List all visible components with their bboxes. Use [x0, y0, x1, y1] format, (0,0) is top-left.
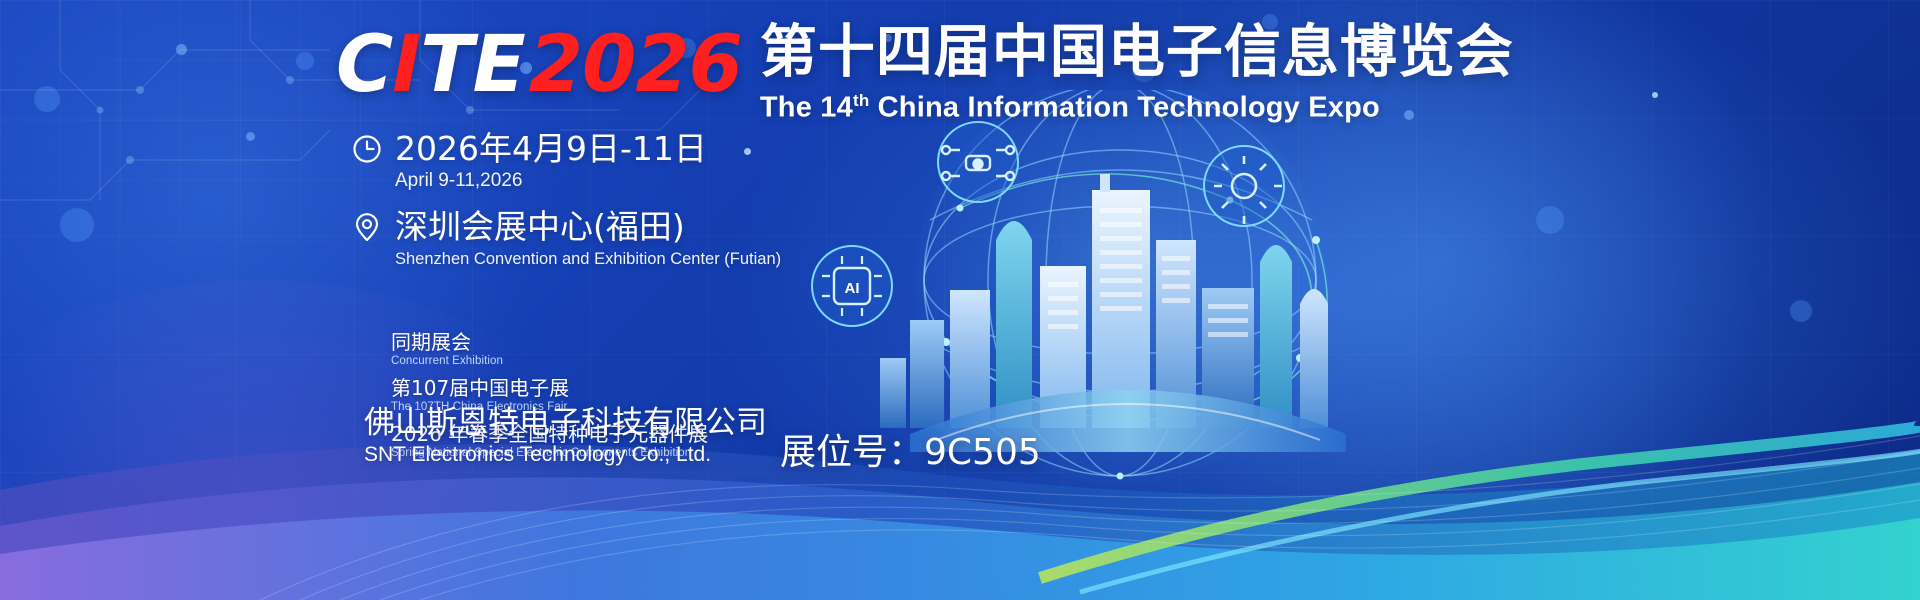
gear-icon — [1204, 146, 1284, 226]
cite-logo-c: C — [336, 26, 392, 104]
cite-logo-i: I — [392, 26, 420, 104]
ai-chip-label: AI — [845, 280, 860, 297]
event-venue-cn: 深圳会展中心(福田) — [395, 209, 685, 245]
expo-title-en-ordinal: th — [853, 91, 869, 110]
decorative-dot — [1790, 300, 1812, 322]
cite-logo: CITE2026 — [336, 26, 742, 104]
event-date-row: 2026年4月9日-11日 — [352, 131, 781, 167]
cite-expo-banner: AI — [0, 0, 1920, 600]
cite-logo-te: TE — [420, 26, 525, 104]
event-date-en: April 9-11,2026 — [395, 170, 781, 192]
decorative-dot — [1652, 92, 1658, 98]
ai-chip-icon: AI — [812, 246, 892, 326]
concurrent-heading-en: Concurrent Exhibition — [391, 354, 708, 368]
drone-icon — [938, 122, 1018, 202]
expo-title-cn: 第十四届中国电子信息博览会 — [760, 22, 1514, 82]
event-venue-row: 深圳会展中心(福田) — [352, 209, 781, 245]
decorative-dot — [1536, 206, 1564, 234]
expo-title-en: The 14th China Information Technology Ex… — [760, 85, 1514, 124]
company-name-cn: 佛山斯恩特电子科技有限公司 — [364, 405, 767, 442]
expo-title-en-pre: The 14 — [760, 92, 853, 124]
banner-header: CITE2026 第十四届中国电子信息博览会 The 14th China In… — [336, 26, 1514, 124]
company-block: 佛山斯恩特电子科技有限公司 SNT Electronics Technology… — [364, 405, 767, 468]
booth-number: 展位号：9C505 — [780, 432, 1041, 474]
clock-icon — [352, 134, 382, 164]
event-info-block: 2026年4月9日-11日 April 9-11,2026 深圳会展中心(福田)… — [352, 131, 781, 270]
cite-logo-year: 2026 — [529, 26, 742, 104]
concurrent-heading-cn: 同期展会 — [391, 331, 708, 354]
event-date-cn: 2026年4月9日-11日 — [395, 131, 707, 167]
concurrent-item-1-cn: 第107届中国电子展 — [391, 377, 708, 400]
company-name-en: SNT Electronics Technology Co., Ltd. — [364, 442, 767, 468]
expo-title-en-post: China Information Technology Expo — [869, 92, 1380, 124]
event-venue-en: Shenzhen Convention and Exhibition Cente… — [395, 248, 781, 270]
title-block: 第十四届中国电子信息博览会 The 14th China Information… — [760, 22, 1514, 124]
location-pin-icon — [352, 212, 382, 242]
